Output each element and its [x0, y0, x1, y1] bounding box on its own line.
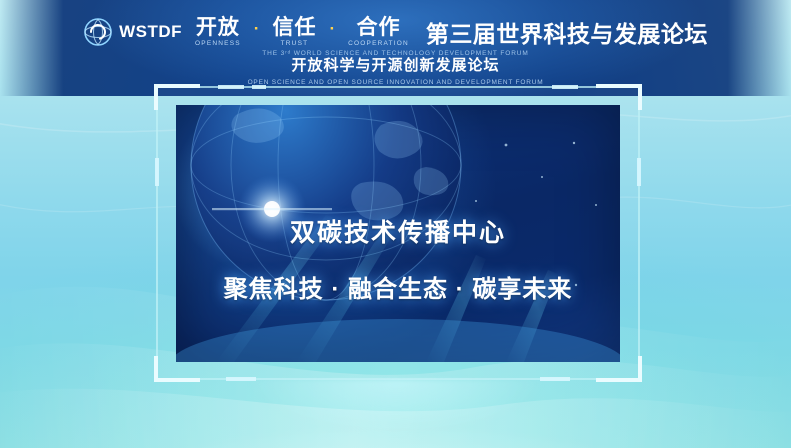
frame-tick-right-1 [637, 158, 641, 186]
frame-tick-top-3 [552, 85, 578, 89]
frame-tick-top-2 [252, 85, 266, 89]
frame-tick-top-1 [218, 85, 244, 89]
screen-content: 双碳技术传播中心 聚焦科技 · 融合生态 · 碳享未来 [176, 105, 620, 362]
banner-subtitle-block: 开放科学与开源创新发展论坛 OPEN SCIENCE AND OPEN SOUR… [0, 58, 791, 86]
keyword-trust-zh: 信任 [272, 17, 316, 38]
screen-text-block: 双碳技术传播中心 聚焦科技 · 融合生态 · 碳享未来 [176, 213, 620, 304]
banner-subtitle-zh: 开放科学与开源创新发展论坛 [291, 58, 499, 75]
keyword-cooperation-zh: 合作 [357, 17, 401, 38]
screen-title: 双碳技术传播中心 [176, 213, 620, 249]
wstdf-logo-text: WSTDF [119, 22, 182, 42]
banner-subtitle-en: OPEN SCIENCE AND OPEN SOURCE INNOVATION … [248, 79, 544, 86]
keyword-separator-1: · [254, 19, 260, 39]
forum-title-en: THE 3ʳᵈ WORLD SCIENCE AND TECHNOLOGY DEV… [262, 50, 528, 57]
keyword-separator-2: · [329, 19, 335, 39]
display-monitor: 双碳技术传播中心 聚焦科技 · 融合生态 · 碳享未来 [156, 86, 640, 380]
screen-slogan: 聚焦科技 · 融合生态 · 碳享未来 [176, 269, 620, 304]
event-banner: WSTDF 开放 OPENNESS · 信任 TRUST · 合作 COOPER… [0, 0, 791, 96]
frame-tick-left-1 [155, 158, 159, 186]
keyword-openness-zh: 开放 [196, 17, 240, 38]
monitor-base-glow [246, 380, 546, 436]
presentation-slide-image: WSTDF 开放 OPENNESS · 信任 TRUST · 合作 COOPER… [0, 0, 791, 448]
